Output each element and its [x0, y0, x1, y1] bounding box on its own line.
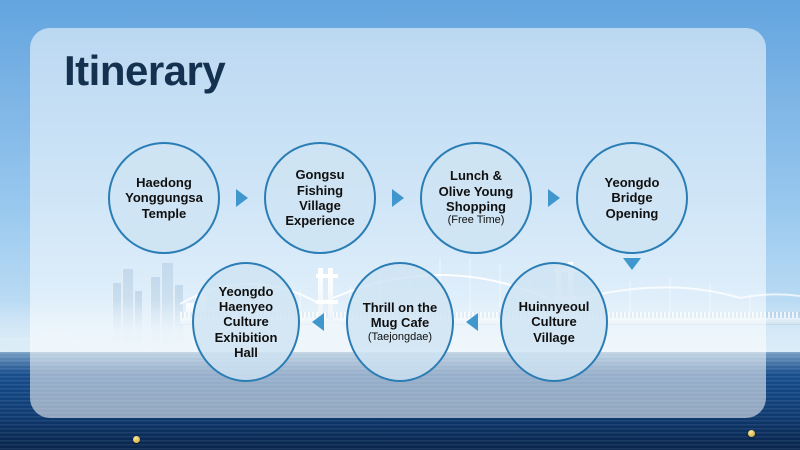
flow-node-label: HuinnyeoulCultureVillage	[519, 299, 590, 345]
flow-node-lunch-olive-young-shopping[interactable]: Lunch &Olive YoungShopping(Free Time)	[420, 142, 532, 254]
flow-node-label: HaedongYonggungsaTemple	[125, 175, 203, 221]
flow-node-label: YeongdoBridgeOpening	[605, 175, 660, 221]
flow-node-thrill-on-the-mug-cafe[interactable]: Thrill on theMug Cafe(Taejongdae)	[346, 262, 454, 382]
flow-node-sublabel: (Free Time)	[439, 214, 514, 227]
flow-node-huinnyeoul-culture-village[interactable]: HuinnyeoulCultureVillage	[500, 262, 608, 382]
buoy	[748, 430, 755, 437]
page-title: Itinerary	[64, 50, 225, 92]
arrow-right-icon	[548, 189, 560, 207]
flow-node-yeongdo-bridge-opening[interactable]: YeongdoBridgeOpening	[576, 142, 688, 254]
flow-node-haedong-yonggungsa-temple[interactable]: HaedongYonggungsaTemple	[108, 142, 220, 254]
arrow-left-icon	[312, 313, 324, 331]
slide-canvas: Itinerary HaedongYonggungsaTemple Gongsu…	[0, 0, 800, 450]
flow-node-label: GongsuFishingVillageExperience	[285, 167, 354, 228]
flow-node-label: Thrill on theMug Cafe(Taejongdae)	[363, 300, 437, 344]
arrow-left-icon	[466, 313, 478, 331]
flow-node-label: YeongdoHaenyeoCultureExhibitionHall	[215, 284, 278, 361]
flow-node-gongsu-fishing-village-experience[interactable]: GongsuFishingVillageExperience	[264, 142, 376, 254]
arrow-down-icon	[623, 258, 641, 270]
arrow-right-icon	[236, 189, 248, 207]
flow-node-label: Lunch &Olive YoungShopping(Free Time)	[439, 168, 514, 227]
arrow-right-icon	[392, 189, 404, 207]
buoy	[133, 436, 140, 443]
flow-node-yeongdo-haenyeo-culture-exhibition-hall[interactable]: YeongdoHaenyeoCultureExhibitionHall	[192, 262, 300, 382]
flow-node-sublabel: (Taejongdae)	[363, 331, 437, 344]
